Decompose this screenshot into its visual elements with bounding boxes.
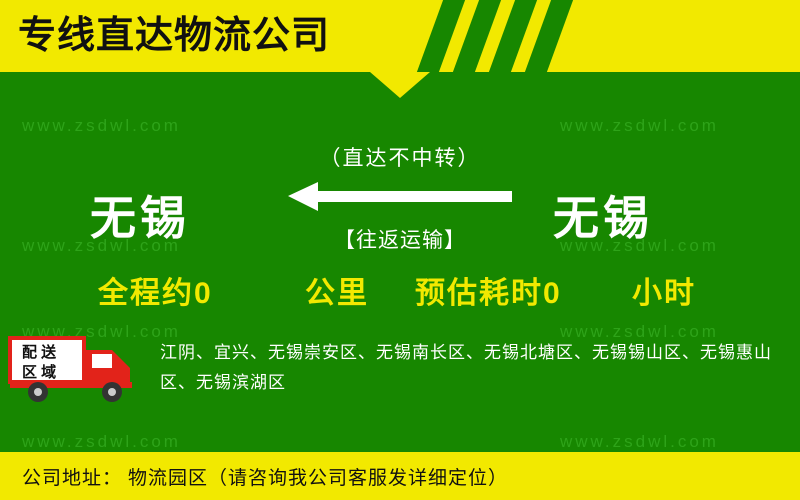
footer-bar: 公司地址：物流园区（请咨询我公司客服发详细定位） bbox=[0, 452, 800, 500]
watermark-text: www.zsdwl.com bbox=[22, 116, 181, 136]
delivery-area-list: 江阴、宜兴、无锡崇安区、无锡南长区、无锡北塘区、无锡锡山区、无锡惠山区、无锡滨湖… bbox=[160, 338, 780, 398]
svg-text:配 送: 配 送 bbox=[22, 343, 57, 361]
distance-unit: 公里 bbox=[305, 268, 369, 312]
origin-city: 无锡 bbox=[90, 182, 190, 248]
address-value: 物流园区（请咨询我公司客服发详细定位） bbox=[128, 468, 508, 489]
route-note-roundtrip: 【往返运输】 bbox=[290, 224, 510, 254]
duration-value: 预估耗时0 bbox=[415, 268, 562, 312]
company-address: 公司地址：物流园区（请咨询我公司客服发详细定位） bbox=[22, 463, 508, 490]
destination-city: 无锡 bbox=[553, 182, 653, 248]
route-note-direct: （直达不中转） bbox=[290, 142, 510, 172]
route-stats: 全程约0 公里 预估耗时0 小时 bbox=[0, 268, 800, 314]
page-title: 专线直达物流公司 bbox=[18, 12, 330, 60]
distance-value: 全程约0 bbox=[98, 268, 213, 312]
delivery-truck-icon: 配 送 区 域 bbox=[8, 330, 148, 410]
svg-text:区 域: 区 域 bbox=[22, 363, 56, 381]
route-arrow-icon bbox=[288, 180, 512, 224]
watermark-text: www.zsdwl.com bbox=[560, 432, 719, 452]
address-label: 公司地址： bbox=[22, 468, 122, 489]
watermark-text: www.zsdwl.com bbox=[560, 116, 719, 136]
logistics-banner: 专线直达物流公司 www.zsdwl.com www.zsdwl.com www… bbox=[0, 0, 800, 500]
duration-unit: 小时 bbox=[632, 268, 696, 312]
header-bar: 专线直达物流公司 bbox=[0, 0, 800, 72]
watermark-text: www.zsdwl.com bbox=[22, 432, 181, 452]
chevron-down-icon bbox=[370, 72, 430, 98]
main-content: www.zsdwl.com www.zsdwl.com www.zsdwl.co… bbox=[0, 72, 800, 452]
